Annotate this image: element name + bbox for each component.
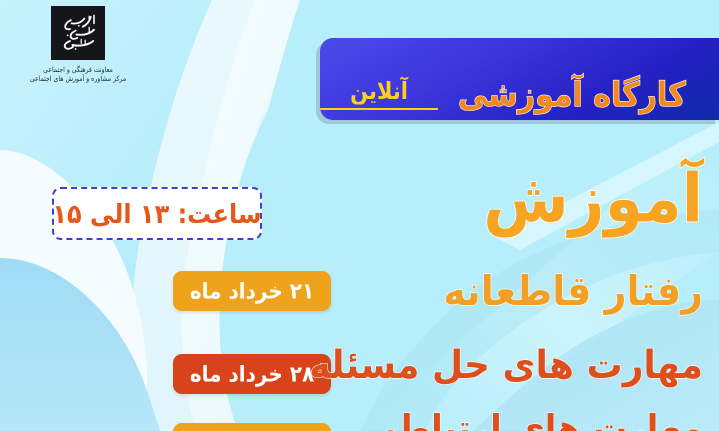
date-pill-second: ۲۸ خرداد ماه — [173, 354, 331, 394]
banner-subtitle: آنلاین — [320, 79, 438, 105]
logo-caption: معاونت فرهنگی و اجتماعی مرکز مشاوره و آم… — [15, 67, 141, 85]
date-pill-third-partial — [173, 423, 331, 431]
banner-title: کارگاه آموزشی — [458, 77, 686, 114]
date-pill-second-label: ۲۸ خرداد ماه — [190, 361, 314, 387]
logo-caption-line-2: مرکز مشاوره و آموزش های اجتماعی — [15, 75, 141, 86]
time-badge: ساعت: ۱۳ الی ۱۵ — [52, 187, 262, 240]
headline-training: آموزش — [483, 166, 703, 233]
banner-subtitle-underline — [320, 108, 438, 110]
headline-communication-skills-partial: مهارت های ارتباطی — [365, 411, 703, 431]
headline-assertive-behaviour: رفتار قاطعانه — [443, 270, 703, 311]
university-seal-icon — [51, 6, 105, 60]
time-badge-label: ساعت: ۱۳ الی ۱۵ — [52, 198, 261, 229]
workshop-banner: کارگاه آموزشی آنلاین — [320, 38, 719, 120]
date-pill-first-label: ۲۱ خرداد ماه — [190, 278, 314, 304]
poster-canvas: معاونت فرهنگی و اجتماعی مرکز مشاوره و آم… — [0, 0, 719, 431]
university-logo: معاونت فرهنگی و اجتماعی مرکز مشاوره و آم… — [14, 6, 142, 85]
date-pill-first: ۲۱ خرداد ماه — [173, 271, 331, 311]
headline-problem-solving: مهارت های حل مسئله — [309, 347, 703, 386]
